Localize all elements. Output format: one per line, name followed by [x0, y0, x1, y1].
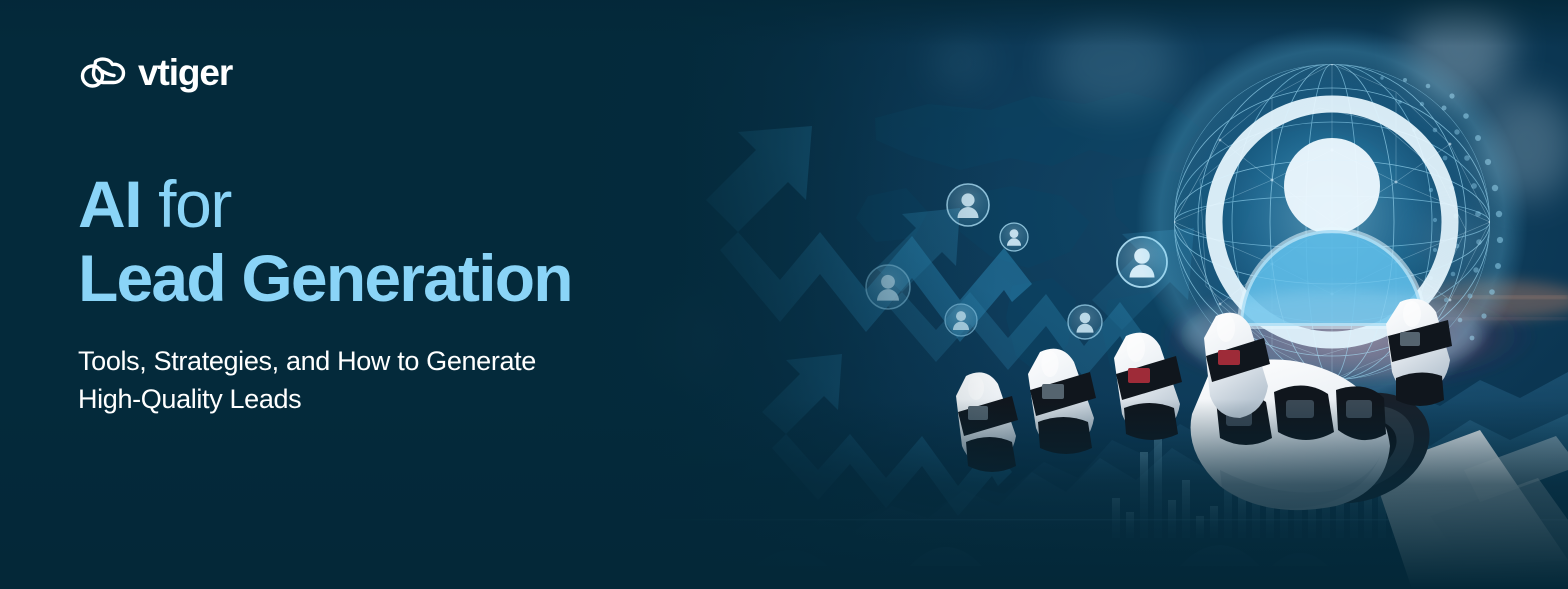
subtitle-line-2: High-Quality Leads [78, 384, 301, 414]
vtiger-cloud-infinity-mark-icon [78, 52, 128, 92]
vtiger-wordmark: vtiger [138, 54, 232, 91]
subtitle-line-1: Tools, Strategies, and How to Generate [78, 346, 536, 376]
headline-light: for [158, 167, 231, 241]
headline-accent: AI [78, 167, 141, 241]
top-gradient-overlay [0, 0, 1568, 46]
hero-banner: vtiger AI for Lead Generation Tools, Str… [0, 0, 1568, 589]
page-subtitle: Tools, Strategies, and How to Generate H… [78, 342, 758, 419]
bottom-gradient-overlay [0, 399, 1568, 589]
hero-copy: AI for Lead Generation Tools, Strategies… [78, 168, 778, 419]
page-title: AI for Lead Generation [78, 168, 778, 316]
vtiger-logo[interactable]: vtiger [78, 52, 232, 92]
headline-line-2: Lead Generation [78, 242, 778, 316]
